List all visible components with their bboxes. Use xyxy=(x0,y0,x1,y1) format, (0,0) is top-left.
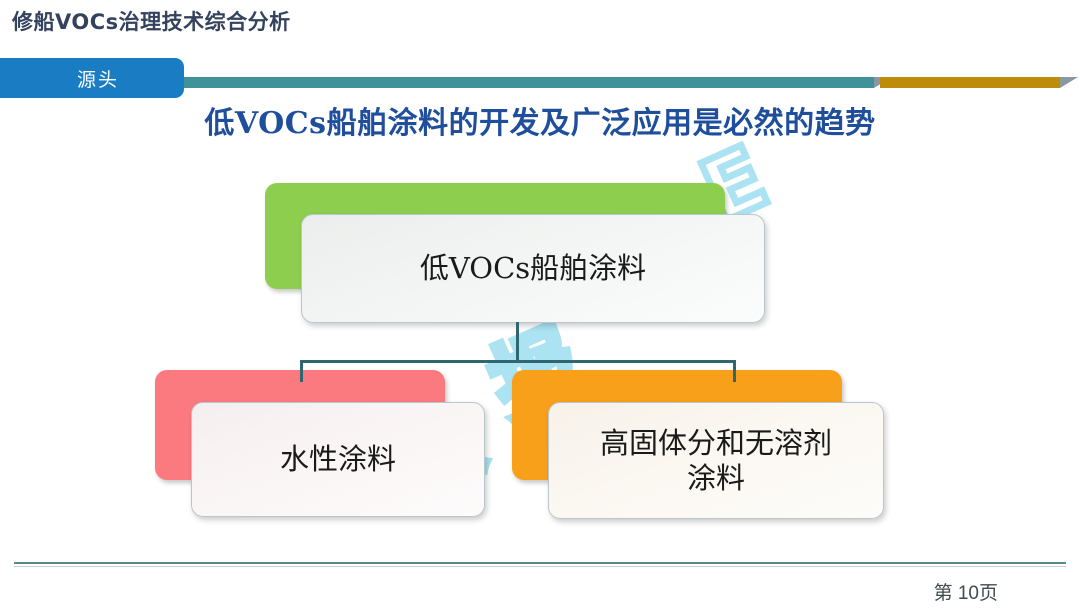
diagram-node-root[interactable]: 低VOCs船舶涂料 xyxy=(265,183,765,323)
node-card: 高固体分和无溶剂 涂料 xyxy=(548,402,884,519)
connector-drop-right xyxy=(733,360,736,382)
node-card: 低VOCs船舶涂料 xyxy=(301,214,765,323)
connector-drop-left xyxy=(300,360,303,382)
node-label: 水性涂料 xyxy=(280,442,396,477)
diagram-node-high-solids[interactable]: 高固体分和无溶剂 涂料 xyxy=(512,370,884,522)
connector-horizontal-bus xyxy=(300,360,736,363)
diagram-node-waterborne[interactable]: 水性涂料 xyxy=(155,370,485,520)
node-card: 水性涂料 xyxy=(191,402,485,517)
connector-root-stem xyxy=(516,322,519,362)
slide-root: 修船VOCs治理技术综合分析 源头 低VOCs船舶涂料的开发及广泛应用是必然的趋… xyxy=(0,0,1080,608)
node-label: 低VOCs船舶涂料 xyxy=(420,251,646,286)
hierarchy-diagram: 低VOCs船舶涂料 水性涂料 高固体分和无溶剂 涂料 xyxy=(0,0,1080,608)
node-label: 高固体分和无溶剂 涂料 xyxy=(600,426,832,496)
